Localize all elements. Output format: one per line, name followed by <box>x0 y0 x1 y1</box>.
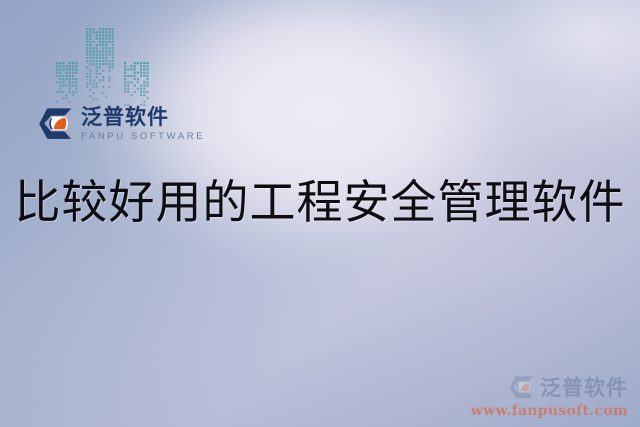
watermark-logo-row: 泛普软件 <box>468 372 628 402</box>
fanpu-hexagon-logo-icon <box>509 375 535 400</box>
pixel-skyline-icon <box>56 14 156 106</box>
poster-canvas: 泛普软件 FANPU SOFTWARE 比较好用的工程安全管理软件 泛普软件 w… <box>0 0 640 427</box>
brand-name-en: FANPU SOFTWARE <box>81 132 205 142</box>
brand-lockup: 泛普软件 FANPU SOFTWARE <box>38 107 205 142</box>
watermark: 泛普软件 www.fanpusoft.com <box>468 372 628 419</box>
watermark-url: www.fanpusoft.com <box>468 403 628 419</box>
brand-wordmark: 泛普软件 FANPU SOFTWARE <box>81 107 205 142</box>
watermark-name-cn: 泛普软件 <box>540 372 628 402</box>
fanpu-hexagon-logo-icon <box>38 107 74 141</box>
page-title: 比较好用的工程安全管理软件 <box>0 176 640 228</box>
brand-name-cn: 泛普软件 <box>81 107 205 128</box>
